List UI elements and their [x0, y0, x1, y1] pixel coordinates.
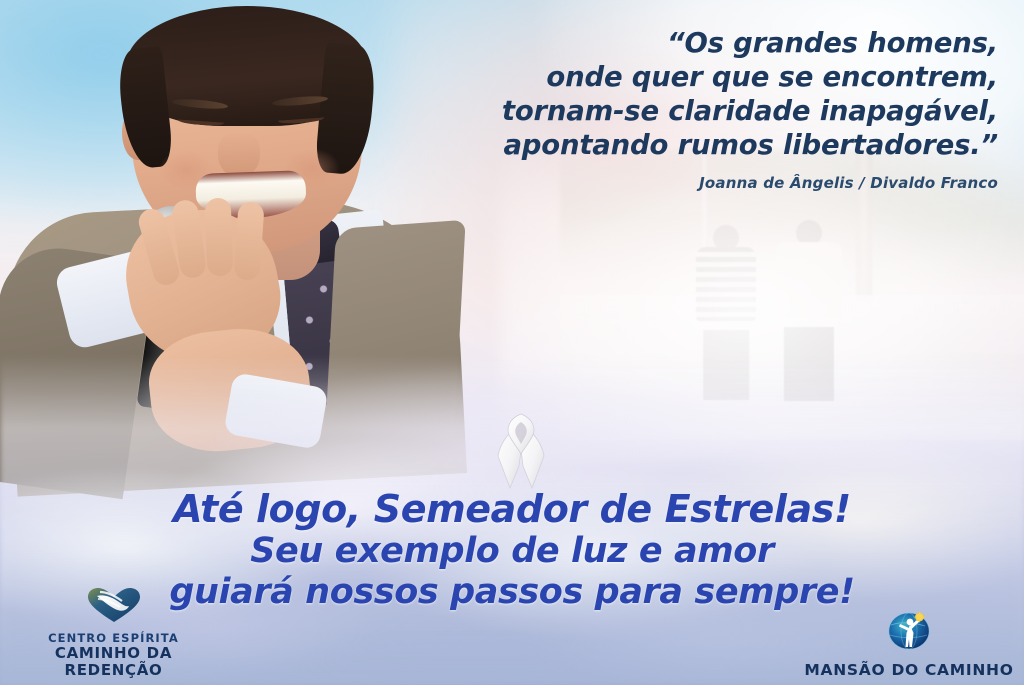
quote-line-4: apontando rumos libertadores.”	[398, 128, 998, 162]
quote-line-1: “Os grandes homens,	[398, 26, 998, 60]
centro-espirita-label-line-2: CAMINHO DA REDENÇÃO	[6, 645, 221, 679]
quote-line-2: onde quer que se encontrem,	[398, 60, 998, 94]
headline-line-2: Seu exemplo de luz e amor	[0, 531, 1024, 572]
mansao-do-caminho-label: MANSÃO DO CAMINHO	[804, 661, 1014, 679]
portrait-finger	[233, 201, 264, 281]
quote-line-3: tornam-se claridade inapagável,	[398, 94, 998, 128]
quote-attribution: Joanna de Ângelis / Divaldo Franco	[398, 174, 998, 192]
mansao-do-caminho-logo: MANSÃO DO CAMINHO	[804, 609, 1014, 679]
centro-espirita-logo: CENTRO ESPÍRITA CAMINHO DA REDENÇÃO	[6, 586, 221, 679]
headline-line-1: Até logo, Semeador de Estrelas!	[0, 487, 1024, 531]
white-mourning-ribbon-icon	[486, 410, 556, 490]
portrait-finger	[205, 198, 234, 277]
memorial-poster: “Os grandes homens, onde quer que se enc…	[0, 0, 1024, 685]
globe-figure-star-logo-icon	[804, 609, 1014, 658]
quote-block: “Os grandes homens, onde quer que se enc…	[398, 26, 998, 192]
heart-hands-logo-icon	[6, 586, 221, 629]
